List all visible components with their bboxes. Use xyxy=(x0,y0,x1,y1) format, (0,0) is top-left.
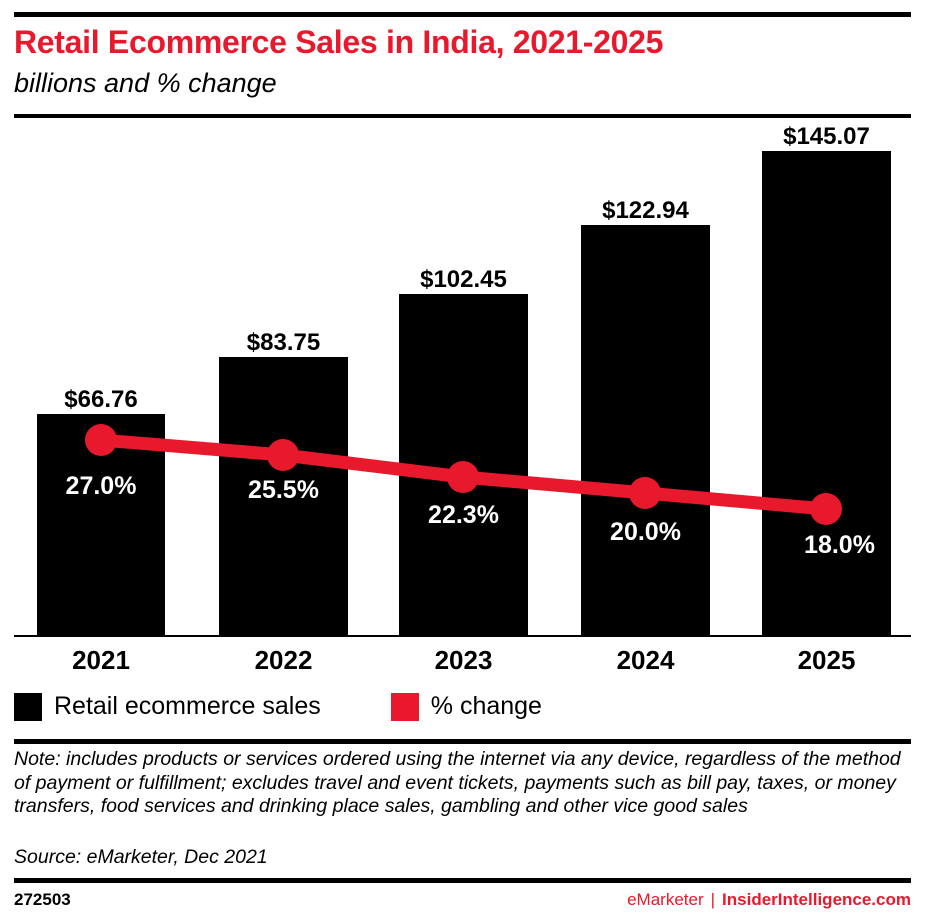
plot-area: $66.76 $83.75 $102.45 $122.94 $145.07 27… xyxy=(0,0,925,660)
chart-source: Source: eMarketer, Dec 2021 xyxy=(14,846,268,869)
chart-page: Retail Ecommerce Sales in India, 2021-20… xyxy=(0,0,925,922)
legend-item-percent-change: % change xyxy=(391,692,542,721)
pct-label-2021: 27.0% xyxy=(37,472,165,501)
x-tick-2021: 2021 xyxy=(37,645,165,676)
x-tick-2025: 2025 xyxy=(762,645,891,676)
x-tick-2023: 2023 xyxy=(399,645,528,676)
pct-label-2025: 18.0% xyxy=(775,531,904,560)
pct-label-2024: 20.0% xyxy=(581,518,710,547)
footer-branding: eMarketer | InsiderIntelligence.com xyxy=(627,890,911,910)
footer-chart-id: 272503 xyxy=(14,890,71,910)
legend-swatch-red-icon xyxy=(391,693,419,721)
x-axis-line xyxy=(14,635,911,637)
chart-legend: Retail ecommerce sales % change xyxy=(14,692,542,721)
legend-item-retail-ecommerce-sales: Retail ecommerce sales xyxy=(14,692,321,721)
legend-swatch-black-icon xyxy=(14,693,42,721)
footer-brand-emarketer: eMarketer xyxy=(627,890,704,910)
footer-rule xyxy=(14,878,911,883)
footer-site-link[interactable]: InsiderIntelligence.com xyxy=(722,890,911,910)
legend-label-percent-change: % change xyxy=(431,692,542,721)
x-tick-2022: 2022 xyxy=(219,645,348,676)
x-tick-2024: 2024 xyxy=(581,645,710,676)
pct-label-2023: 22.3% xyxy=(399,501,528,530)
chart-note: Note: includes products or services orde… xyxy=(14,748,909,819)
footer-separator: | xyxy=(711,890,715,910)
pct-label-2022: 25.5% xyxy=(219,476,348,505)
note-rule xyxy=(14,739,911,744)
percent-change-line xyxy=(0,0,925,660)
legend-label-retail-ecommerce-sales: Retail ecommerce sales xyxy=(54,692,321,721)
